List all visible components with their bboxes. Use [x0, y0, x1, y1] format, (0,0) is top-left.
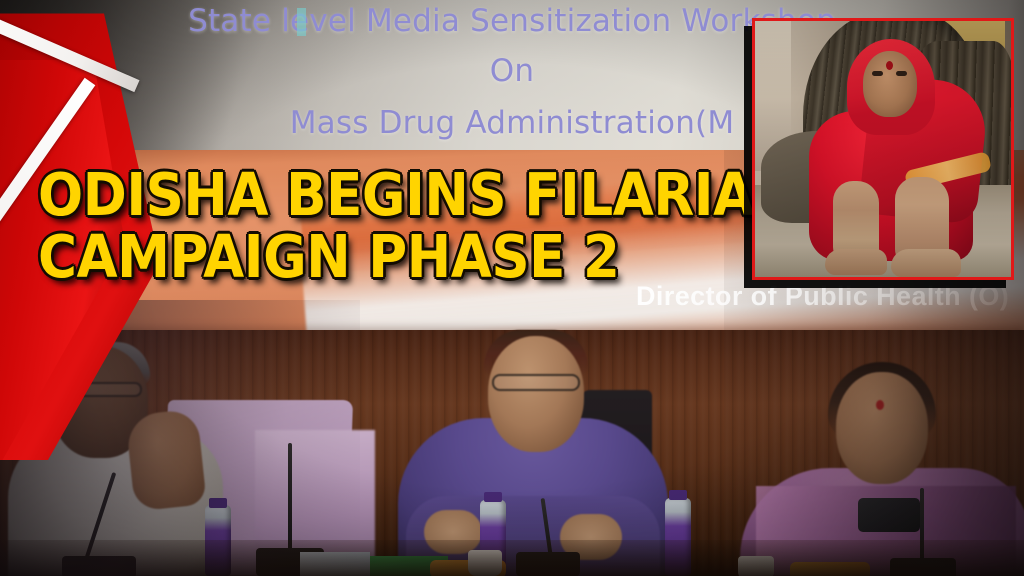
headline: ODISHA BEGINS FILARIA CAMPAIGN PHASE 2	[38, 166, 833, 286]
news-thumbnail-image: State level Media Sensitization Workshop…	[0, 0, 1024, 576]
slide-cursor-highlight	[297, 8, 306, 36]
headline-line-2: CAMPAIGN PHASE 2	[38, 228, 754, 286]
headline-line-1: ODISHA BEGINS FILARIA	[38, 166, 754, 224]
inset-photo-filaria-patient	[752, 18, 1014, 280]
inset-gradient-overlay	[755, 21, 1011, 277]
white-stripe-upper	[0, 0, 140, 92]
